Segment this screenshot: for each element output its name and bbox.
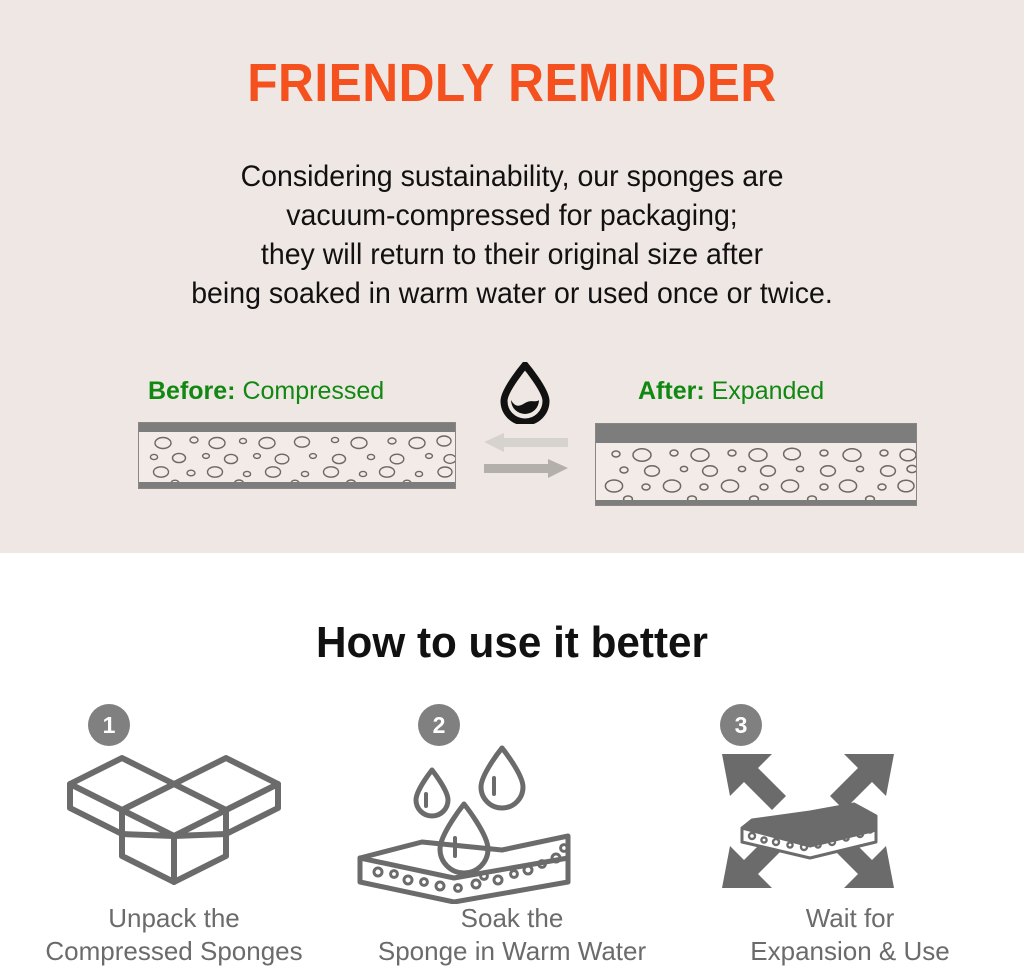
reminder-body-line: vacuum-compressed for packaging;	[26, 196, 999, 235]
reminder-body-line: being soaked in warm water or used once …	[26, 274, 999, 313]
sponge-bottom-band	[139, 482, 455, 488]
reminder-body-text: Considering sustainability, our sponges …	[26, 157, 999, 313]
before-label-lead: Before:	[148, 377, 236, 405]
expanded-sponge-icon	[595, 423, 917, 506]
step-caption-line: Expansion & Use	[680, 935, 1020, 968]
swap-arrows	[484, 432, 568, 480]
water-drops-on-sponge-icon	[342, 724, 682, 904]
step-caption: Wait for Expansion & Use	[680, 902, 1020, 968]
after-label-state: Expanded	[705, 377, 825, 405]
compressed-sponge-icon	[138, 422, 456, 489]
open-box-icon	[4, 724, 344, 904]
step-caption: Soak the Sponge in Warm Water	[342, 902, 682, 968]
reminder-body-line: they will return to their original size …	[26, 235, 999, 274]
after-label: After: Expanded	[638, 377, 824, 406]
howto-step-3: 3	[680, 700, 1020, 960]
arrow-right-icon	[484, 459, 568, 478]
before-label: Before: Compressed	[148, 377, 384, 406]
step-caption-line: Unpack the	[4, 902, 344, 935]
before-label-state: Compressed	[236, 377, 385, 405]
step-caption-line: Wait for	[680, 902, 1020, 935]
howto-step-1: 1 Unpack the Compressed Sponges	[4, 700, 344, 960]
howto-step-2: 2	[342, 700, 682, 960]
howto-title: How to use it better	[20, 618, 1003, 668]
sponge-pores	[139, 423, 456, 489]
step-caption-line: Sponge in Warm Water	[342, 935, 682, 968]
page-title: FRIENDLY REMINDER	[41, 52, 983, 114]
step-caption-line: Soak the	[342, 902, 682, 935]
sponge-bottom-band	[596, 500, 916, 505]
arrow-left-icon	[484, 433, 568, 452]
after-label-lead: After:	[638, 377, 705, 405]
water-drop-icon	[496, 362, 554, 424]
reminder-body-line: Considering sustainability, our sponges …	[26, 157, 999, 196]
infographic-page: FRIENDLY REMINDER Considering sustainabi…	[0, 0, 1024, 967]
step-caption-line: Compressed Sponges	[4, 935, 344, 968]
expanding-arrows-sponge-icon	[680, 724, 1020, 904]
sponge-pores	[596, 424, 917, 506]
step-caption: Unpack the Compressed Sponges	[4, 902, 344, 968]
